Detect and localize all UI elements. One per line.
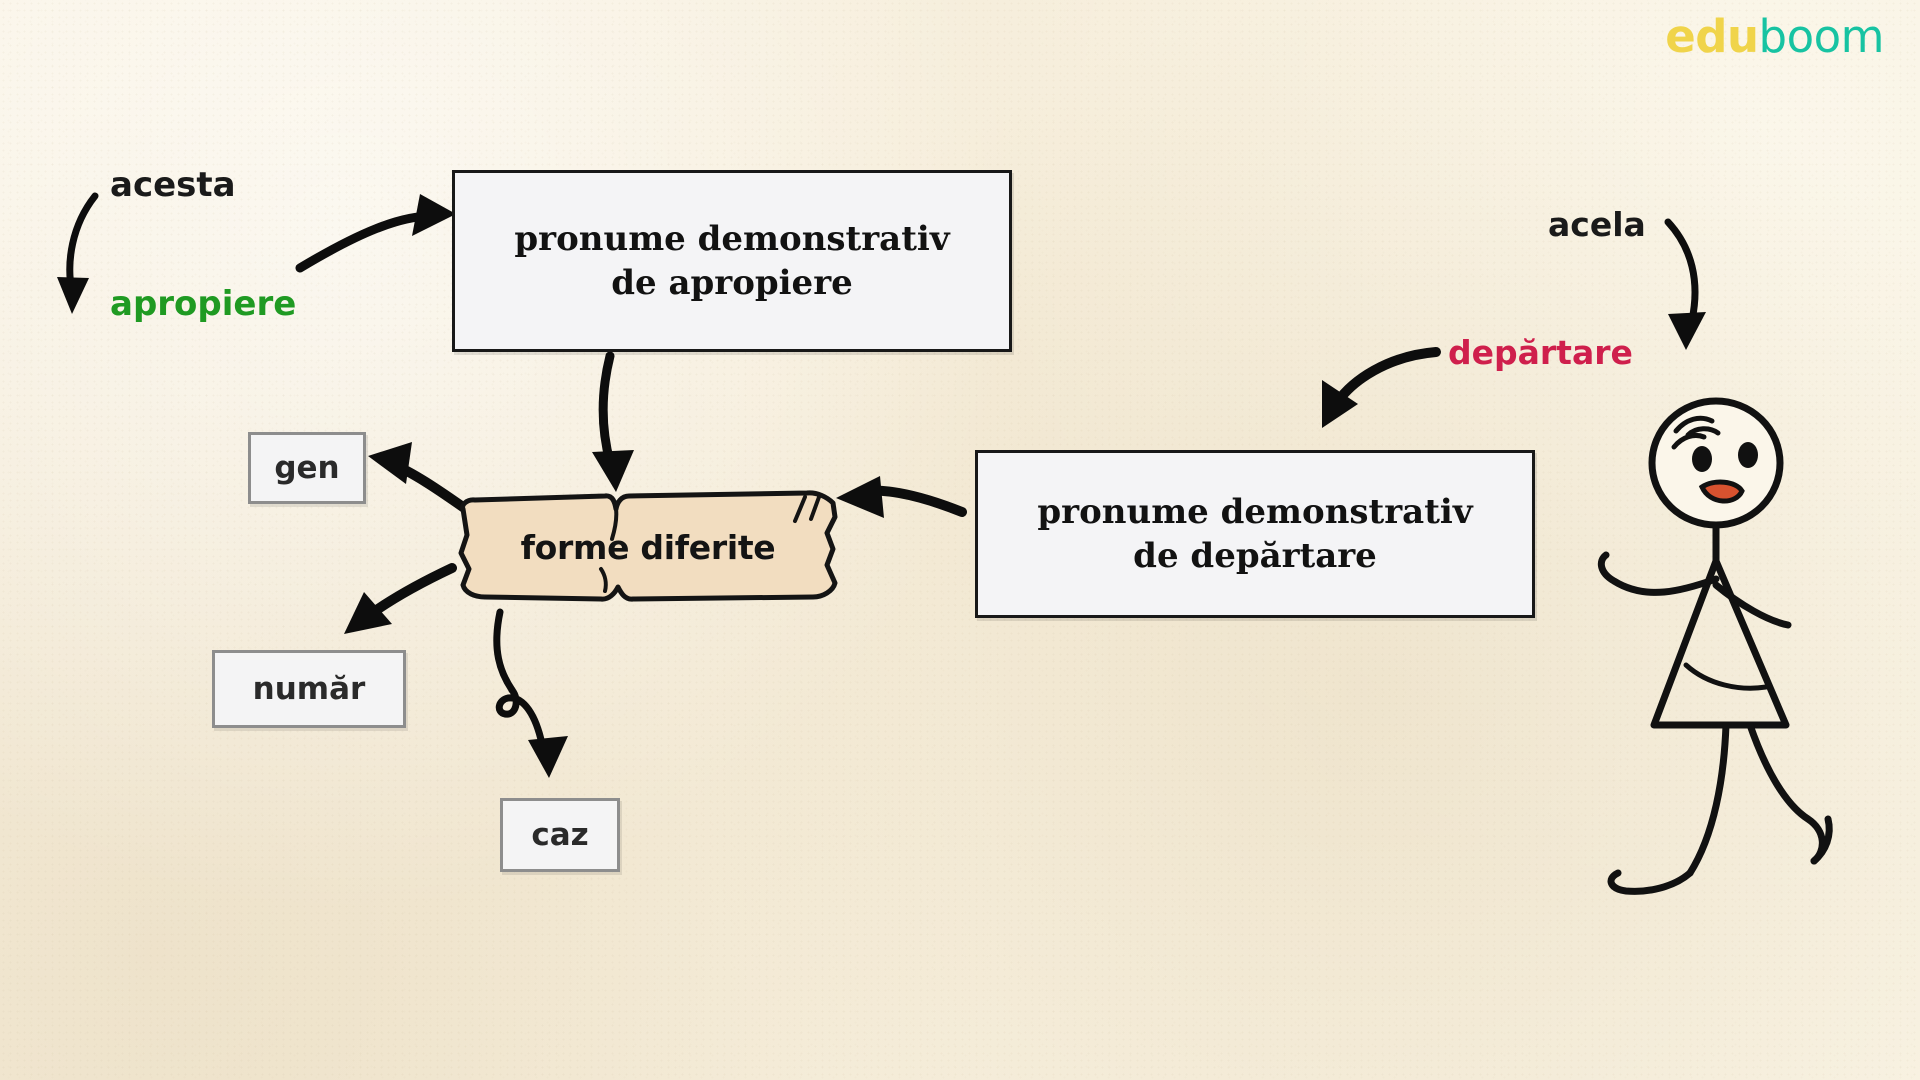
keyword-acela: acela xyxy=(1548,208,1646,241)
arrow-departare-to-box xyxy=(1322,352,1436,428)
stick-figure-dress-fold xyxy=(1686,665,1766,688)
box-numar: număr xyxy=(212,650,406,728)
logo-text-edu: edu xyxy=(1665,10,1758,63)
box-apropiere-line2: de apropiere xyxy=(611,261,853,305)
box-departare-line1: pronume demonstrativ xyxy=(1037,490,1472,534)
banner-forme-diferite: forme diferite xyxy=(455,487,841,605)
box-caz: caz xyxy=(500,798,620,872)
stick-figure-arm-right xyxy=(1716,585,1788,625)
eduboom-logo: eduboom xyxy=(1665,14,1884,59)
arrow-apropiere-to-box xyxy=(300,194,456,268)
arrow-box-apropiere-to-forme xyxy=(592,356,634,492)
slide-canvas: eduboom xyxy=(0,0,1920,1080)
box-pronume-demonstrativ-departare: pronume demonstrativ de depărtare xyxy=(975,450,1535,618)
arrow-acela-to-departare xyxy=(1668,222,1706,350)
stick-figure-eye-left xyxy=(1692,446,1712,472)
stick-figure-shoe-left xyxy=(1611,873,1690,891)
stick-figure-mouth xyxy=(1702,482,1742,501)
arrow-acesta-to-apropiere xyxy=(57,196,95,314)
stick-figure-illustration xyxy=(1590,395,1870,1015)
box-apropiere-line1: pronume demonstrativ xyxy=(514,217,949,261)
arrow-forme-to-caz xyxy=(497,612,568,778)
stick-figure-leg-left xyxy=(1690,725,1726,873)
stick-figure-head xyxy=(1652,401,1780,525)
banner-label: forme diferite xyxy=(455,528,841,567)
keyword-departare: depărtare xyxy=(1448,336,1633,369)
keyword-acesta: acesta xyxy=(110,168,236,202)
keyword-apropiere: apropiere xyxy=(110,287,296,321)
stick-figure-eye-right xyxy=(1738,442,1758,468)
arrow-forme-to-numar xyxy=(344,568,452,634)
box-gen: gen xyxy=(248,432,366,504)
box-departare-line2: de depărtare xyxy=(1133,534,1377,578)
logo-text-boom: boom xyxy=(1759,10,1884,63)
box-pronume-demonstrativ-apropiere: pronume demonstrativ de apropiere xyxy=(452,170,1012,352)
stick-figure-leg-right xyxy=(1750,725,1822,861)
stick-figure-arm-left xyxy=(1601,555,1716,592)
stick-figure-drawing xyxy=(1590,395,1870,1015)
arrow-box-departare-to-forme xyxy=(836,476,962,518)
